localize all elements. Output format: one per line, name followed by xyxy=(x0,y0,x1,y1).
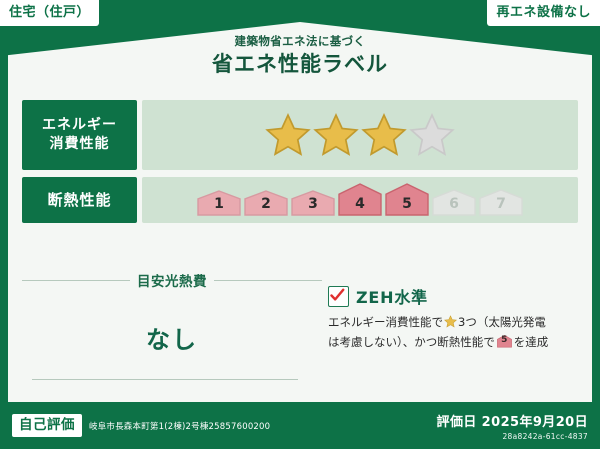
zeh-block: ZEH水準 エネルギー消費性能で3つ（太陽光発電 は考慮しない）、かつ断熱性能で… xyxy=(322,270,578,394)
evaluation-date: 評価日 2025年9月20日 xyxy=(437,415,588,430)
evaluation-id: 28a8242a-61cc-4837 xyxy=(437,432,588,441)
insulation-level-4: 4 xyxy=(338,183,382,216)
check-icon xyxy=(328,286,349,307)
main-panel: エネルギー 消費性能 断熱性能 1234567 目安光熱費 xyxy=(8,92,592,402)
zeh-description: エネルギー消費性能で3つ（太陽光発電 は考慮しない）、かつ断熱性能で5を達成 xyxy=(328,314,578,352)
zeh-desc-line1-a: エネルギー消費性能で xyxy=(328,315,443,329)
star-icon-empty xyxy=(409,112,455,158)
divider-line-right xyxy=(214,280,322,281)
footer-bar: 自己評価 岐阜市長森本町第1(2棟)2号棟25857600200 評価日 202… xyxy=(0,402,600,449)
energy-label-line2: 消費性能 xyxy=(50,135,110,154)
insulation-level-scale: 1234567 xyxy=(197,183,523,217)
star-icon-filled xyxy=(265,112,311,158)
star-rating xyxy=(265,112,455,158)
utility-cost-heading: 目安光熱費 xyxy=(22,270,322,290)
insulation-level-label: 7 xyxy=(479,196,523,212)
zeh-desc-line2-a: は考慮しない）、かつ断熱性能で xyxy=(328,335,495,349)
insulation-level-1: 1 xyxy=(197,190,241,216)
insulation-level-3: 3 xyxy=(291,190,335,216)
renewable-energy-tag: 再エネ設備なし xyxy=(487,0,600,26)
energy-performance-value xyxy=(142,100,578,170)
zeh-heading: ZEH水準 xyxy=(328,284,578,308)
insulation-level-label: 4 xyxy=(338,196,382,212)
insulation-level-label: 6 xyxy=(432,196,476,212)
insulation-level-7: 7 xyxy=(479,189,523,216)
insulation-level-6: 6 xyxy=(432,189,476,216)
zeh-desc-line2-b: を達成 xyxy=(514,335,549,349)
zeh-title: ZEH水準 xyxy=(356,284,428,308)
energy-performance-label: エネルギー 消費性能 xyxy=(22,100,137,170)
insulation-level-label: 5 xyxy=(385,196,429,212)
house-badge-icon: 5 xyxy=(497,334,512,349)
insulation-level-label: 2 xyxy=(244,196,288,212)
insulation-performance-label: 断熱性能 xyxy=(22,177,137,223)
utility-cost-underline xyxy=(32,379,298,380)
footer-right-block: 評価日 2025年9月20日 28a8242a-61cc-4837 xyxy=(437,411,588,441)
zeh-desc-line2-badge: 5 xyxy=(497,334,512,349)
performance-rows: エネルギー 消費性能 断熱性能 1234567 xyxy=(22,100,578,230)
zeh-desc-line1-b: 3つ（太陽光発電 xyxy=(458,315,546,329)
energy-performance-row: エネルギー 消費性能 xyxy=(22,100,578,170)
insulation-level-label: 1 xyxy=(197,196,241,212)
utility-cost-heading-text: 目安光熱費 xyxy=(137,270,207,290)
insulation-level-5: 5 xyxy=(385,183,429,216)
star-icon-filled xyxy=(313,112,359,158)
utility-cost-block: 目安光熱費 なし xyxy=(22,270,322,394)
energy-label-line1: エネルギー xyxy=(42,116,117,135)
divider-line-left xyxy=(22,280,130,281)
utility-cost-value: なし xyxy=(22,320,322,355)
insulation-level-label: 3 xyxy=(291,196,335,212)
star-icon-filled xyxy=(361,112,407,158)
insulation-performance-row: 断熱性能 1234567 xyxy=(22,177,578,223)
energy-label-card: 住宅（住戸） 再エネ設備なし 建築物省エネ法に基づく 省エネ性能ラベル エネルギ… xyxy=(0,0,600,449)
property-address: 岐阜市長森本町第1(2棟)2号棟25857600200 xyxy=(89,420,270,432)
star-icon xyxy=(444,317,457,331)
insulation-level-2: 2 xyxy=(244,190,288,216)
lower-section: 目安光熱費 なし ZEH水準 エネルギー消費性能で3つ（太陽光発電 は考慮しない… xyxy=(22,270,578,394)
header-subtitle: 建築物省エネ法に基づく xyxy=(0,33,600,49)
self-evaluation-badge: 自己評価 xyxy=(12,414,82,436)
building-type-tag: 住宅（住戸） xyxy=(0,0,99,26)
page-title: 省エネ性能ラベル xyxy=(0,48,600,78)
insulation-performance-value: 1234567 xyxy=(142,177,578,223)
